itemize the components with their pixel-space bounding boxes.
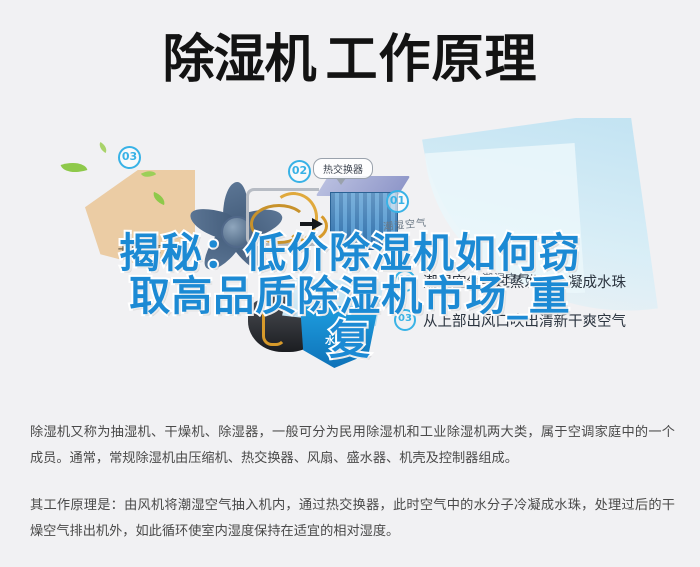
page-title: 除湿机工作原理 xyxy=(162,34,537,86)
leaf-icon xyxy=(61,158,88,178)
heat-exchanger-icon xyxy=(322,176,404,250)
diagram-legend: 02 潮湿空气经过蒸发器冷凝成水珠 03 从上部出风口吹出清新干爽空气 xyxy=(394,270,694,348)
page-title-part1: 除湿机 xyxy=(162,30,315,90)
diagram-illustration: 干燥空气 水箱 热交换器 潮湿空气 潮湿空气 03 02 01 02 潮湿空气经… xyxy=(0,118,700,390)
dry-air-label: 干燥空气 xyxy=(118,241,162,256)
heat-exchanger-callout: 热交换器 xyxy=(313,158,373,179)
diagram-badge-03: 03 xyxy=(118,146,141,169)
legend-text-03: 从上部出风口吹出清新干爽空气 xyxy=(423,310,626,331)
legend-item: 03 从上部出风口吹出清新干爽空气 xyxy=(394,309,694,331)
leaf-icon xyxy=(97,142,109,153)
legend-item: 02 潮湿空气经过蒸发器冷凝成水珠 xyxy=(394,270,694,292)
legend-text-02: 潮湿空气经过蒸发器冷凝成水珠 xyxy=(423,271,626,292)
diagram-badge-02: 02 xyxy=(288,160,311,183)
body-paragraph-2: 其工作原理是：由风机将潮湿空气抽入机内，通过热交换器，此时空气中的水分子冷凝成水… xyxy=(30,493,675,544)
page-title-band: 除湿机工作原理 xyxy=(0,0,700,120)
diagram-badge-01: 01 xyxy=(386,190,409,213)
article-body: 除湿机又称为抽湿机、干燥机、除湿器，一般可分为民用除湿机和工业除湿机两大类，属于… xyxy=(30,420,675,567)
compressor-coil-icon xyxy=(262,286,286,346)
humid-air-label: 潮湿空气 xyxy=(382,214,427,234)
legend-badge-02: 02 xyxy=(394,270,416,292)
water-tank-label: 水箱 xyxy=(325,332,345,347)
page-title-part2: 工作原理 xyxy=(326,30,538,90)
legend-badge-03: 03 xyxy=(394,309,416,331)
body-paragraph-1: 除湿机又称为抽湿机、干燥机、除湿器，一般可分为民用除湿机和工业除湿机两大类，属于… xyxy=(30,420,675,471)
